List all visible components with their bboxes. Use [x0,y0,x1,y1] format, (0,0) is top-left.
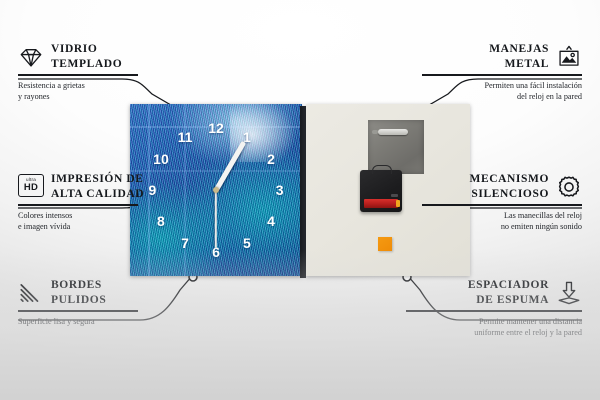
callout-divider [422,204,582,205]
polished-edges-icon [18,280,44,306]
callout-bordes-pulidos: BORDES PULIDOS Superficie lisa y segura [18,278,138,327]
hanger-slot [378,129,408,135]
callout-divider [18,310,138,311]
clock-center-cap [213,187,219,193]
callout-desc-line1: Resistencia a grietas [18,80,138,91]
clock-numeral: 2 [267,152,275,166]
callout-title-line1: ESPACIADOR [468,278,549,293]
callout-title-line1: MANEJAS [489,42,549,57]
wall-frame-hanger-icon [556,44,582,70]
clock-numeral: 3 [276,183,284,197]
mechanism-hook [372,165,392,174]
callout-desc-line2: no emiten ningún sonido [422,221,582,232]
callout-divider [18,204,138,205]
callout-header: ESPACIADOR DE ESPUMA [406,278,582,307]
gear-icon [556,174,582,200]
callout-header: BORDES PULIDOS [18,278,138,307]
callout-desc-line1: Las manecillas del reloj [422,210,582,221]
clock-numeral: 12 [208,121,224,135]
hd-icon-large-text: HD [24,183,38,193]
callout-title-line2: SILENCIOSO [469,187,549,202]
callout-header: ultra HD IMPRESIÓN DE ALTA CALIDAD [18,172,138,201]
callout-mecanismo-silencioso: MECANISMO SILENCIOSO Las manecillas del … [422,172,582,232]
callout-desc-line1: Colores intensos [18,210,138,221]
callout-title-line1: MECANISMO [469,172,549,187]
infographic-canvas: 12 1 2 3 4 5 6 7 8 9 10 11 [0,0,600,400]
callout-header: VIDRIO TEMPLADO [18,42,138,71]
callout-desc-line2: uniforme entre el reloj y la pared [406,327,582,338]
callout-title-line2: PULIDOS [51,293,106,308]
callout-desc-line1: Superficie lisa y segura [18,316,138,327]
callout-desc-line2: y rayones [18,91,138,102]
callout-manejas-metal: MANEJAS METAL Permiten una fácil instala… [422,42,582,102]
callout-impresion-alta-calidad: ultra HD IMPRESIÓN DE ALTA CALIDAD Color… [18,172,138,232]
clock-numeral: 4 [267,214,275,228]
clock-numeral: 8 [157,214,165,228]
callout-divider [406,310,582,311]
clock-front-face: 12 1 2 3 4 5 6 7 8 9 10 11 [130,104,302,276]
callout-title-line2: TEMPLADO [51,57,122,72]
callout-divider [18,74,138,75]
callout-title-line1: BORDES [51,278,106,293]
callout-title-line2: METAL [489,57,549,72]
callout-header: MANEJAS METAL [422,42,582,71]
callout-desc-line2: del reloj en la pared [422,91,582,102]
callout-divider [422,74,582,75]
callout-title-line2: DE ESPUMA [468,293,549,308]
callout-title-line1: IMPRESIÓN DE [51,172,144,187]
ultra-hd-icon: ultra HD [18,174,44,200]
callout-header: MECANISMO SILENCIOSO [422,172,582,201]
battery [364,199,398,208]
product-image: 12 1 2 3 4 5 6 7 8 9 10 11 [130,104,470,276]
callout-vidrio-templado: VIDRIO TEMPLADO Resistencia a grietas y … [18,42,138,102]
clock-numeral: 10 [153,152,169,166]
clock-numeral: 11 [178,130,193,144]
callout-title-line1: VIDRIO [51,42,122,57]
clock-mechanism-box [360,170,402,212]
callout-desc-line2: e imagen vívida [18,221,138,232]
callout-espaciador-de-espuma: ESPACIADOR DE ESPUMA Permite mantener un… [406,278,582,338]
diamond-icon [18,44,44,70]
mechanism-detail [391,194,398,197]
glass-glare [230,104,302,162]
clock-numeral: 5 [243,236,251,250]
clock-numeral: 9 [148,183,156,197]
foam-spacer-pad [378,237,392,251]
callout-title-line2: ALTA CALIDAD [51,187,144,202]
clock-numeral: 7 [181,236,189,250]
callout-desc-line1: Permiten una fácil instalación [422,80,582,91]
foam-spacer-arrow-icon [556,280,582,306]
clock-second-hand [215,190,217,248]
callout-desc-line1: Permite mantener una distancia [406,316,582,327]
